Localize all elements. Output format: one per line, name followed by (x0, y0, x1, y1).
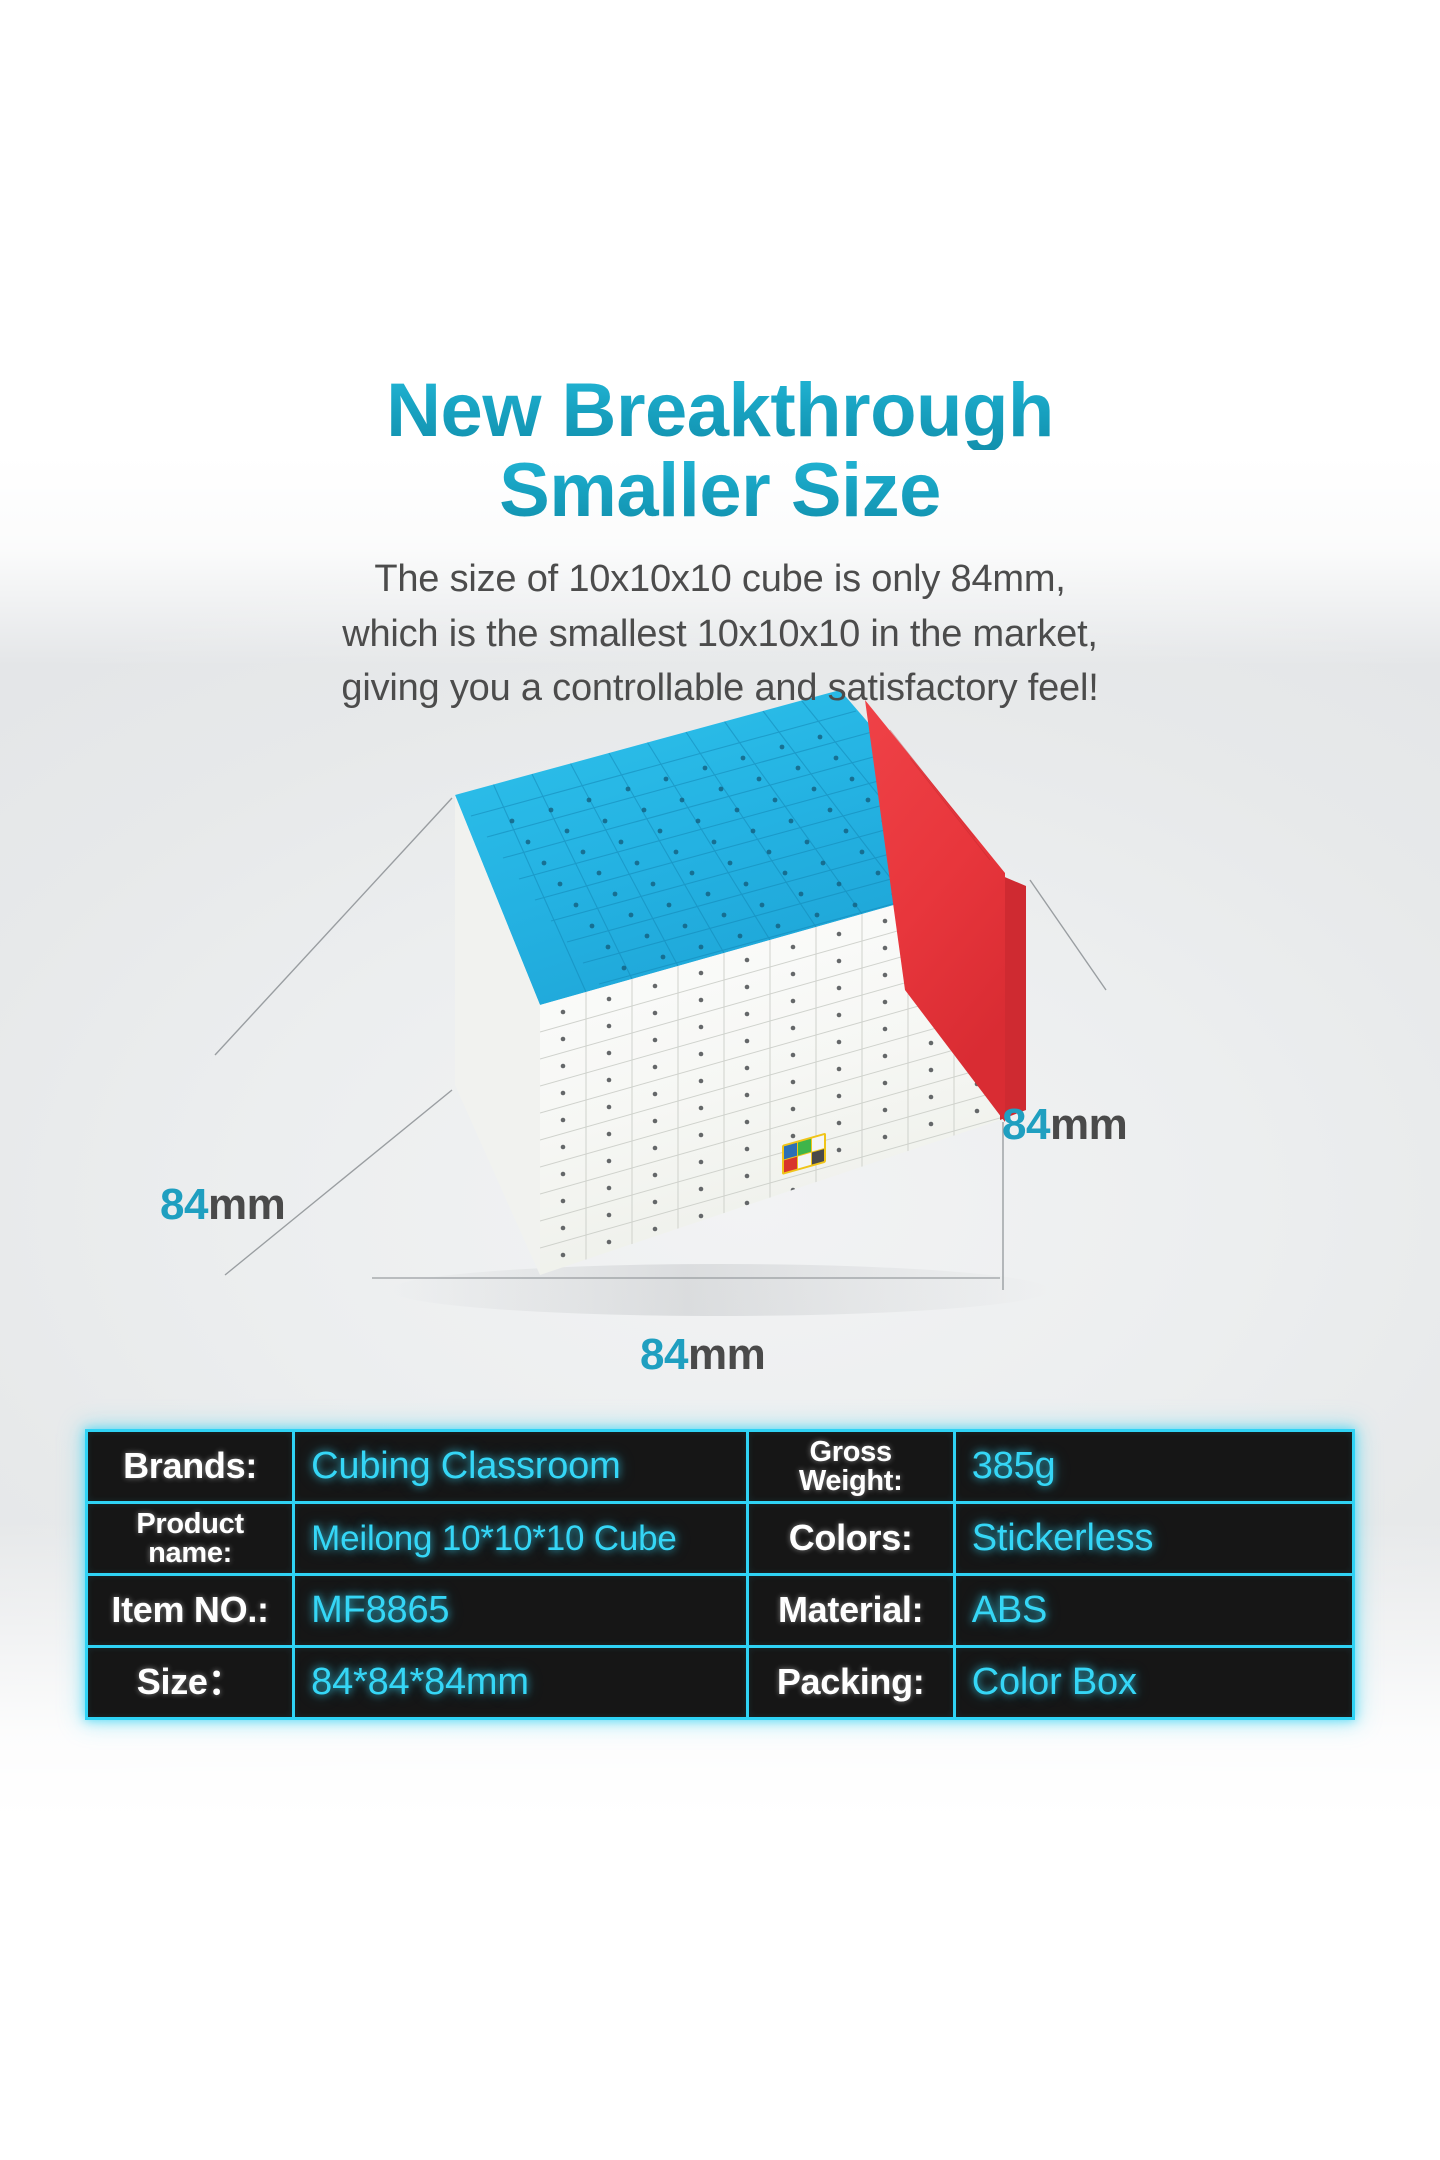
spec-value-gross-weight: 385g (956, 1432, 1352, 1504)
product-image-area (0, 690, 1440, 1390)
spec-label-brands: Brands: (88, 1432, 295, 1504)
spec-value-colors: Stickerless (956, 1504, 1352, 1576)
table-row: Item NO.: MF8865 Material: ABS (88, 1576, 1352, 1648)
spec-value-size: 84*84*84mm (295, 1648, 748, 1717)
spec-label-product-name: Product name: (88, 1504, 295, 1576)
spec-value-material: ABS (956, 1576, 1352, 1648)
headline-line-2: Smaller Size (0, 452, 1440, 530)
dimension-label-left: 84mm (160, 1180, 285, 1230)
table-row: Size： 84*84*84mm Packing: Color Box (88, 1648, 1352, 1717)
cube-illustration (0, 690, 1440, 1390)
spec-label-item-no: Item NO.: (88, 1576, 295, 1648)
spec-label-gross-weight: Gross Weight: (749, 1432, 956, 1504)
dimension-label-right: 84mm (1002, 1100, 1127, 1150)
subtitle-line-1: The size of 10x10x10 cube is only 84mm, (0, 552, 1440, 607)
spec-label-size: Size： (88, 1648, 295, 1717)
subtitle-line-2: which is the smallest 10x10x10 in the ma… (0, 607, 1440, 662)
subtitle: The size of 10x10x10 cube is only 84mm, … (0, 552, 1440, 716)
subtitle-line-3: giving you a controllable and satisfacto… (0, 661, 1440, 716)
dimension-bottom-unit: mm (688, 1330, 765, 1379)
guide-left (215, 798, 452, 1055)
dimension-right-unit: mm (1050, 1100, 1127, 1149)
spec-value-brands: Cubing Classroom (295, 1432, 748, 1504)
spec-value-product-name: Meilong 10*10*10 Cube (295, 1504, 748, 1576)
cube-shadow (390, 1264, 1050, 1316)
headline-line-1: New Breakthrough (0, 372, 1440, 450)
spec-label-colors: Colors: (749, 1504, 956, 1576)
table-row: Brands: Cubing Classroom Gross Weight: 3… (88, 1432, 1352, 1504)
spec-value-packing: Color Box (956, 1648, 1352, 1717)
headline: New Breakthrough Smaller Size (0, 372, 1440, 529)
spec-label-gross-weight-line1: Gross (765, 1438, 937, 1467)
spec-label-gross-weight-line2: Weight: (765, 1467, 937, 1496)
dimension-label-bottom: 84mm (640, 1330, 765, 1380)
dimension-right-number: 84 (1002, 1100, 1050, 1149)
specification-table: Brands: Cubing Classroom Gross Weight: 3… (88, 1432, 1352, 1717)
spec-label-material: Material: (749, 1576, 956, 1648)
dimension-left-number: 84 (160, 1180, 208, 1229)
spec-label-product-name-line2: name: (104, 1539, 276, 1568)
dimension-bottom-number: 84 (640, 1330, 688, 1379)
infographic-page: New Breakthrough Smaller Size The size o… (0, 0, 1440, 2160)
spec-label-packing: Packing: (749, 1648, 956, 1717)
dimension-left-unit: mm (208, 1180, 285, 1229)
spec-label-product-name-line1: Product (104, 1510, 276, 1539)
spec-value-item-no: MF8865 (295, 1576, 748, 1648)
table-row: Product name: Meilong 10*10*10 Cube Colo… (88, 1504, 1352, 1576)
